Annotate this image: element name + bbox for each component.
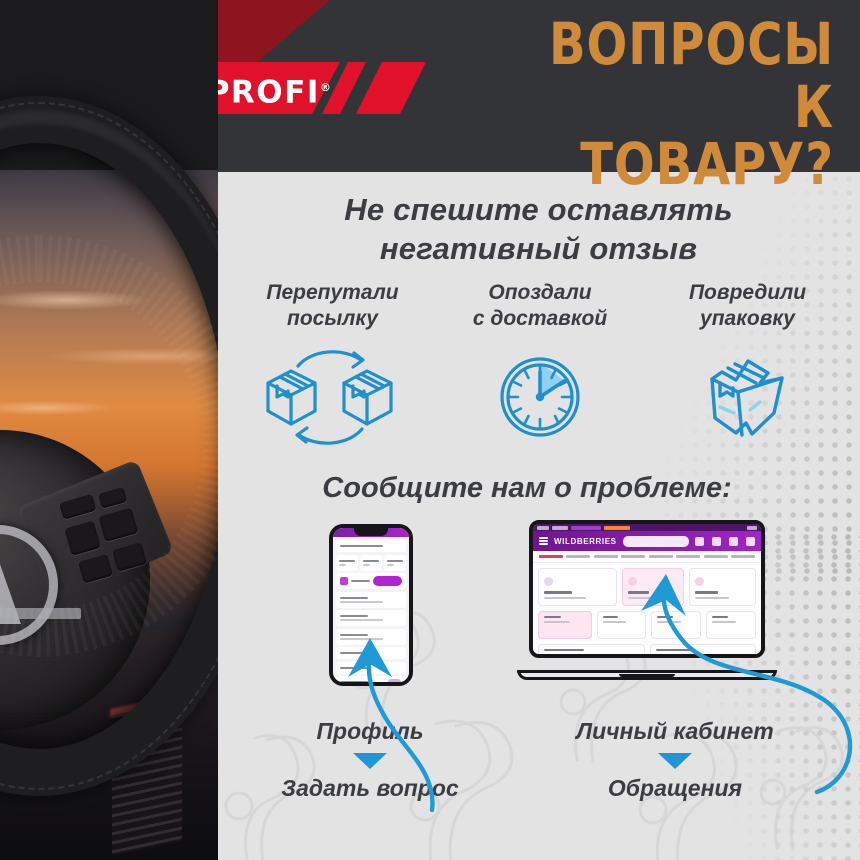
feature-wrong-parcel: Перепутали посылку <box>235 280 430 460</box>
wallet-balance <box>351 580 370 582</box>
laptop-screen: WILDBERRIES <box>529 520 765 658</box>
feature-list: Перепутали посылку <box>235 280 845 460</box>
phone-menu-item[interactable] <box>336 592 406 608</box>
menu-title <box>340 597 368 599</box>
stat-label <box>387 564 394 566</box>
wb-search-input[interactable] <box>623 536 689 547</box>
laptop-mockup: WILDBERRIES <box>517 520 777 680</box>
card-title <box>712 616 728 619</box>
product-photo <box>0 0 218 860</box>
menu-sub <box>340 601 383 603</box>
wb-card-deliveries[interactable] <box>622 568 684 606</box>
card-title <box>544 649 584 652</box>
wb-grid-row <box>538 611 756 639</box>
wb-nav-tabs <box>533 551 761 563</box>
open-wallet-button[interactable] <box>373 576 402 586</box>
stat-label <box>339 564 346 566</box>
banner-content: Не спешите оставлять негативный отзыв Пе… <box>217 172 860 860</box>
wb-card-addresses[interactable] <box>597 611 647 639</box>
phone-screen <box>333 537 409 682</box>
phone-wallet-row[interactable] <box>336 573 406 589</box>
phone-notch <box>354 528 388 536</box>
card-title <box>657 616 673 619</box>
main-heading: Не спешите оставлять негативный отзыв <box>217 190 860 268</box>
stat-value <box>339 560 355 562</box>
menu-burger-icon[interactable] <box>539 535 548 546</box>
card-title <box>628 591 649 594</box>
device-mockups: WILDBERRIES <box>217 524 860 714</box>
card-sub <box>544 597 586 599</box>
card-sub <box>657 621 680 623</box>
feature-label: Опоздали с доставкой <box>443 280 638 332</box>
laptop-base <box>517 670 777 680</box>
wb-card-payment[interactable] <box>538 611 592 639</box>
promo-banner: A AUTOPROFI® ВОПРОСЫ К ТОВАРУ? <box>0 0 860 860</box>
wb-card-brands[interactable] <box>706 611 756 639</box>
menu-title <box>340 615 368 617</box>
phone-menu-item[interactable] <box>336 647 406 659</box>
nav-tab-cart[interactable] <box>594 555 618 558</box>
heart-icon[interactable] <box>712 537 721 546</box>
nav-tab-orders[interactable] <box>704 555 728 558</box>
menu-title <box>340 667 368 669</box>
support-icon <box>388 679 401 686</box>
banner-title: ВОПРОСЫ К ТОВАРУ? <box>504 16 834 192</box>
callout-profile: Профиль Задать вопрос <box>255 718 485 802</box>
wb-card-personal[interactable] <box>538 568 617 606</box>
card-sub <box>695 597 729 599</box>
card-title <box>544 616 561 619</box>
wb-header: WILDBERRIES <box>533 531 761 551</box>
card-sub <box>603 621 626 623</box>
nav-tab-profile[interactable] <box>731 555 755 558</box>
stat-value <box>363 560 379 562</box>
phone-stat-card[interactable] <box>360 555 382 571</box>
phone-ask-question-row[interactable] <box>336 676 406 686</box>
wb-topbar-lang[interactable] <box>747 526 757 530</box>
feature-label: Перепутали посылку <box>235 280 430 332</box>
phone-menu-item[interactable] <box>336 662 406 674</box>
phone-menu-item[interactable] <box>336 610 406 626</box>
wheel-cover-highlight <box>0 110 218 782</box>
callout-step-top: Личный кабинет <box>525 718 825 745</box>
header-red-slash-2 <box>356 62 426 114</box>
wb-card-discount[interactable] <box>689 568 756 606</box>
phone-profile-header[interactable] <box>336 540 406 552</box>
feature-label-line1: Опоздали <box>488 281 591 304</box>
wb-dashboard-grid <box>533 563 761 658</box>
feature-label: Повредили упаковку <box>650 280 845 332</box>
wb-card-favorites[interactable] <box>650 644 757 658</box>
menu-title <box>340 634 368 636</box>
main-heading-line2: негативный отзыв <box>380 231 697 266</box>
feature-damaged-packaging: Повредили упаковку <box>650 280 845 460</box>
user-icon[interactable] <box>729 537 738 546</box>
menu-sub <box>340 619 383 621</box>
wb-topbar-promo[interactable] <box>571 526 601 530</box>
card-title <box>656 649 696 652</box>
registered-mark: ® <box>320 81 333 94</box>
nav-tab-chat[interactable] <box>621 555 645 558</box>
phone-profile-name <box>340 545 383 547</box>
wb-topbar-badge[interactable] <box>604 526 630 530</box>
avatar <box>544 577 553 586</box>
callout-step-bottom: Задать вопрос <box>255 775 485 802</box>
sub-heading: Сообщите нам о проблеме: <box>217 472 837 505</box>
card-sub <box>712 621 735 623</box>
feature-label-line2: с доставкой <box>473 307 607 330</box>
wb-grid-row <box>538 568 756 606</box>
banner-title-line1: ВОПРОСЫ <box>530 16 834 73</box>
wb-header-icons <box>695 537 755 546</box>
wb-topbar-item[interactable] <box>537 526 549 530</box>
card-title <box>695 591 718 594</box>
wb-topbar <box>533 524 761 531</box>
menu-sub <box>340 638 383 640</box>
wb-card-receipts[interactable] <box>651 611 701 639</box>
clock-icon <box>443 348 638 446</box>
card-title <box>544 591 572 594</box>
feature-late-delivery: Опоздали с доставкой <box>443 280 638 460</box>
nav-tab-favorites[interactable] <box>566 555 590 558</box>
wb-site-logo: WILDBERRIES <box>554 537 617 546</box>
phone-stat-card[interactable] <box>336 555 358 571</box>
feature-label-line2: посылку <box>287 307 378 330</box>
callout-labels: Профиль Задать вопрос Личный кабинет Обр… <box>217 718 860 838</box>
triangle-down-icon <box>353 753 387 769</box>
stat-value <box>387 560 403 562</box>
two-boxes-exchange-arrows-icon <box>235 348 430 446</box>
wb-topbar-item[interactable] <box>552 526 568 530</box>
card-sub <box>544 654 603 656</box>
feature-label-line1: Перепутали <box>266 281 398 304</box>
stat-label <box>363 564 370 566</box>
cart-icon[interactable] <box>746 537 755 546</box>
box-icon <box>628 577 637 586</box>
menu-title <box>340 681 368 683</box>
menu-sub <box>340 685 383 686</box>
damaged-box-icon <box>650 348 845 446</box>
phone-stat-card[interactable] <box>384 555 406 571</box>
phone-mockup <box>329 524 413 686</box>
wb-grid-row <box>538 644 756 658</box>
phone-menu-item[interactable] <box>336 629 406 645</box>
phone-stats-row <box>336 555 406 571</box>
card-title <box>603 616 619 619</box>
triangle-down-icon <box>658 753 692 769</box>
callout-step-top: Профиль <box>255 718 485 745</box>
banner-title-line2: К ТОВАРУ? <box>530 79 834 193</box>
feature-label-line1: Повредили <box>689 281 806 304</box>
wb-card-purchases[interactable] <box>538 644 645 658</box>
card-sub <box>628 597 659 599</box>
nav-tab-main[interactable] <box>539 555 563 558</box>
card-sub <box>544 621 570 623</box>
callout-step-bottom: Обращения <box>525 775 825 802</box>
nav-tab-appeals[interactable] <box>649 555 673 558</box>
callout-account: Личный кабинет Обращения <box>525 718 825 802</box>
wallet-icon <box>340 577 348 585</box>
feature-label-line2: упаковку <box>700 307 795 330</box>
menu-title <box>340 652 368 654</box>
nav-tab-reviews[interactable] <box>676 555 700 558</box>
location-pin-icon[interactable] <box>695 537 704 546</box>
percent-icon <box>695 577 704 586</box>
